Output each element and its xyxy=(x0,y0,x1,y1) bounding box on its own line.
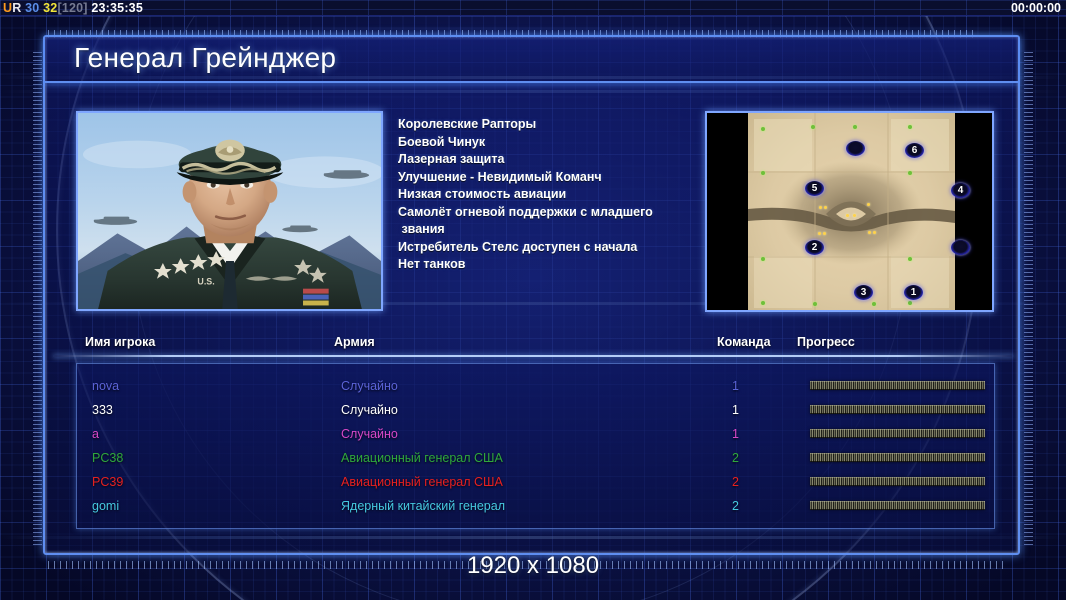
cell-army[interactable]: Ядерный китайский генерал xyxy=(341,499,505,513)
status-clock-right: 00:00:00 xyxy=(1011,0,1061,16)
start-position-marker[interactable]: 4 xyxy=(951,183,970,198)
oil-dot-icon xyxy=(846,214,849,217)
column-header-player-name: Имя игрока xyxy=(85,335,155,349)
oil-dot-icon xyxy=(819,206,822,209)
status-u-letter: U xyxy=(3,1,12,15)
supply-dot-icon xyxy=(908,171,912,175)
start-position-marker[interactable]: 3 xyxy=(854,285,873,300)
start-position-marker[interactable]: 1 xyxy=(904,285,923,300)
status-value-30: 30 xyxy=(25,1,39,15)
progress-bar xyxy=(810,477,985,486)
start-position-marker[interactable]: 2 xyxy=(805,240,824,255)
cell-team[interactable]: 1 xyxy=(732,379,739,393)
ability-item: Нет танков xyxy=(398,256,718,274)
oil-dot-icon xyxy=(818,232,821,235)
ability-item: Улучшение - Невидимый Команч xyxy=(398,169,718,187)
table-row[interactable]: a Случайно 1 xyxy=(77,424,994,448)
start-position-marker[interactable] xyxy=(846,141,865,156)
progress-bar xyxy=(810,429,985,438)
cell-player-name[interactable]: a xyxy=(92,427,99,441)
supply-dot-icon xyxy=(872,302,876,306)
supply-dot-icon xyxy=(761,127,765,131)
cell-team[interactable]: 2 xyxy=(732,499,739,513)
table-row[interactable]: 333 Случайно 1 xyxy=(77,400,994,424)
player-table-body: nova Случайно 1 333 Случайно 1 a Случайн… xyxy=(76,363,995,529)
oil-dot-icon xyxy=(853,214,856,217)
cell-player-name[interactable]: 333 xyxy=(92,403,113,417)
start-position-marker[interactable]: 6 xyxy=(905,143,924,158)
cell-player-name[interactable]: PC39 xyxy=(92,475,123,489)
status-clock-left: 23:35:35 xyxy=(91,1,143,15)
top-status-bar: UR 30 32[120] 23:35:35 00:00:00 xyxy=(0,0,1066,16)
ruler-vertical-left xyxy=(33,52,42,548)
start-position-marker[interactable] xyxy=(951,240,970,255)
ability-item: Самолёт огневой поддержки с младшего xyxy=(398,204,718,222)
oil-dot-icon xyxy=(823,232,826,235)
table-row[interactable]: gomi Ядерный китайский генерал 2 xyxy=(77,496,994,520)
progress-bar xyxy=(810,501,985,510)
svg-text:U.S.: U.S. xyxy=(197,277,214,287)
ability-item: Лазерная защита xyxy=(398,151,718,169)
lobby-panel: Генерал Грейнджер xyxy=(43,35,1020,555)
status-left-group: UR 30 32[120] 23:35:35 xyxy=(3,0,143,16)
supply-dot-icon xyxy=(908,125,912,129)
cell-army[interactable]: Авиационный генерал США xyxy=(341,475,503,489)
general-granger-portrait: U.S. xyxy=(78,113,381,310)
supply-dot-icon xyxy=(908,301,912,305)
supply-dot-icon xyxy=(813,302,817,306)
oil-dot-icon xyxy=(868,231,871,234)
cell-army[interactable]: Случайно xyxy=(341,427,398,441)
cell-team[interactable]: 1 xyxy=(732,403,739,417)
cell-team[interactable]: 1 xyxy=(732,427,739,441)
cell-army[interactable]: Авиационный генерал США xyxy=(341,451,503,465)
table-row[interactable]: nova Случайно 1 xyxy=(77,376,994,400)
map-preview-image: 6 5 4 2 3 1 xyxy=(748,113,955,312)
cell-player-name[interactable]: gomi xyxy=(92,499,119,513)
panel-title-bar: Генерал Грейнджер xyxy=(45,37,1018,83)
cell-army[interactable]: Случайно xyxy=(341,403,398,417)
oil-dot-icon xyxy=(873,231,876,234)
supply-dot-icon xyxy=(908,257,912,261)
table-header-divider xyxy=(53,355,1014,357)
cell-team[interactable]: 2 xyxy=(732,475,739,489)
status-value-bracket: [120] xyxy=(57,1,87,15)
general-portrait-frame: U.S. xyxy=(76,111,383,311)
oil-dot-icon xyxy=(824,206,827,209)
supply-dot-icon xyxy=(853,125,857,129)
player-table-header: Имя игрока Армия Команда Прогресс xyxy=(45,335,1018,357)
start-position-marker[interactable]: 5 xyxy=(805,181,824,196)
general-ability-list: Королевские Рапторы Боевой Чинук Лазерна… xyxy=(398,116,718,274)
status-value-32: 32 xyxy=(43,1,57,15)
page-title: Генерал Грейнджер xyxy=(74,42,336,74)
supply-dot-icon xyxy=(761,301,765,305)
supply-dot-icon xyxy=(761,171,765,175)
ability-item: Королевские Рапторы xyxy=(398,116,718,134)
column-header-army: Армия xyxy=(334,335,375,349)
supply-dot-icon xyxy=(761,257,765,261)
ability-item: звания xyxy=(398,221,718,239)
oil-dot-icon xyxy=(867,203,870,206)
general-info-section: U.S. Королевские Рапторы Боевой Чинук Ла… xyxy=(45,85,1018,331)
column-header-team: Команда xyxy=(717,335,771,349)
status-r-letter: R xyxy=(12,1,21,15)
column-header-progress: Прогресс xyxy=(797,335,855,349)
map-preview-frame[interactable]: 6 5 4 2 3 1 xyxy=(705,111,994,312)
table-row[interactable]: PC39 Авиационный генерал США 2 xyxy=(77,472,994,496)
cell-army[interactable]: Случайно xyxy=(341,379,398,393)
ability-item: Боевой Чинук xyxy=(398,134,718,152)
ruler-vertical-right xyxy=(1024,52,1033,548)
resolution-label: 1920 x 1080 xyxy=(0,552,1066,580)
progress-bar xyxy=(810,381,985,390)
cell-team[interactable]: 2 xyxy=(732,451,739,465)
table-row[interactable]: PC38 Авиационный генерал США 2 xyxy=(77,448,994,472)
supply-dot-icon xyxy=(811,125,815,129)
cell-player-name[interactable]: PC38 xyxy=(92,451,123,465)
progress-bar xyxy=(810,405,985,414)
progress-bar xyxy=(810,453,985,462)
cell-player-name[interactable]: nova xyxy=(92,379,119,393)
ability-item: Истребитель Стелс доступен с начала xyxy=(398,239,718,257)
ability-item: Низкая стоимость авиации xyxy=(398,186,718,204)
